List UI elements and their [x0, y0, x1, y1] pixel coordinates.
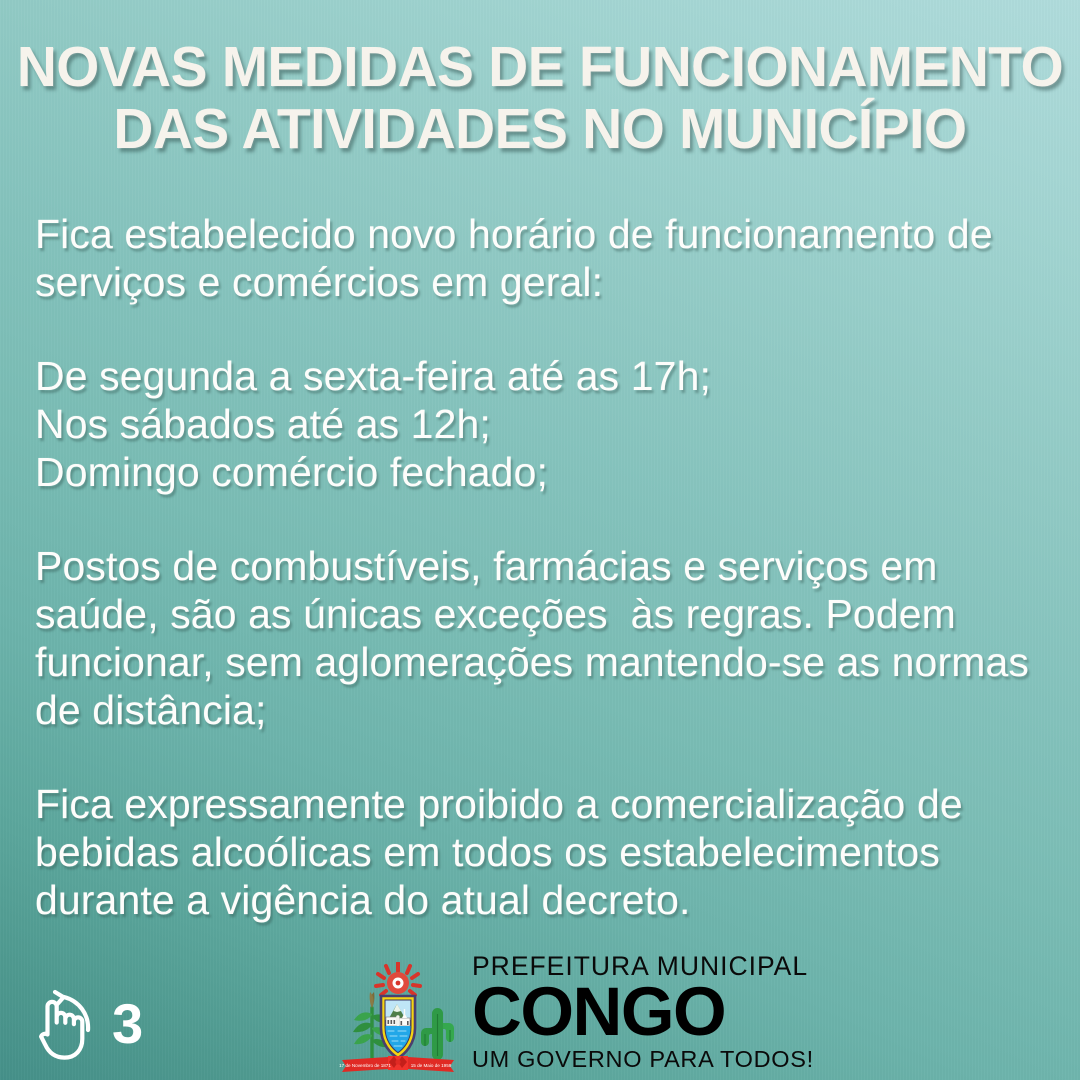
congo-coat-of-arms-icon: 17 de Novembro de 1871 15 de Maio de 195…: [336, 962, 460, 1078]
body-paragraph-alcohol-ban: Fica expressamente proibido a comerciali…: [35, 780, 1045, 924]
title-line-2: DAS ATIVIDADES NO MUNICÍPIO: [16, 98, 1064, 160]
poster-title: NOVAS MEDIDAS DE FUNCIONAMENTO DAS ATIVI…: [0, 36, 1080, 160]
brand-lockup: 17 de Novembro de 1871 15 de Maio de 195…: [336, 952, 814, 1078]
poster-canvas: NOVAS MEDIDAS DE FUNCIONAMENTO DAS ATIVI…: [0, 0, 1080, 1080]
body-paragraph-exceptions: Postos de combustíveis, farmácias e serv…: [35, 542, 1045, 734]
swipe-left-hand-icon: [26, 986, 100, 1062]
body-paragraph-hours-intro: Fica estabelecido novo horário de funcio…: [35, 210, 1045, 306]
brand-wordmark: PREFEITURA MUNICIPAL CONGO UM GOVERNO PA…: [472, 952, 814, 1078]
swipe-indicator[interactable]: 3: [26, 986, 143, 1062]
ribbon-date-left: 17 de Novembro de 1871: [339, 1063, 391, 1068]
title-line-1: NOVAS MEDIDAS DE FUNCIONAMENTO: [16, 36, 1064, 98]
brand-tagline: UM GOVERNO PARA TODOS!: [472, 1046, 814, 1072]
body-paragraph-schedule-list: De segunda a sexta-feira até as 17h; Nos…: [35, 352, 1045, 496]
ribbon-date-right: 15 de Maio de 1959: [411, 1063, 452, 1068]
poster-body: Fica estabelecido novo horário de funcio…: [35, 210, 1045, 924]
brand-city-name: CONGO: [472, 982, 814, 1042]
page-number: 3: [112, 996, 143, 1052]
